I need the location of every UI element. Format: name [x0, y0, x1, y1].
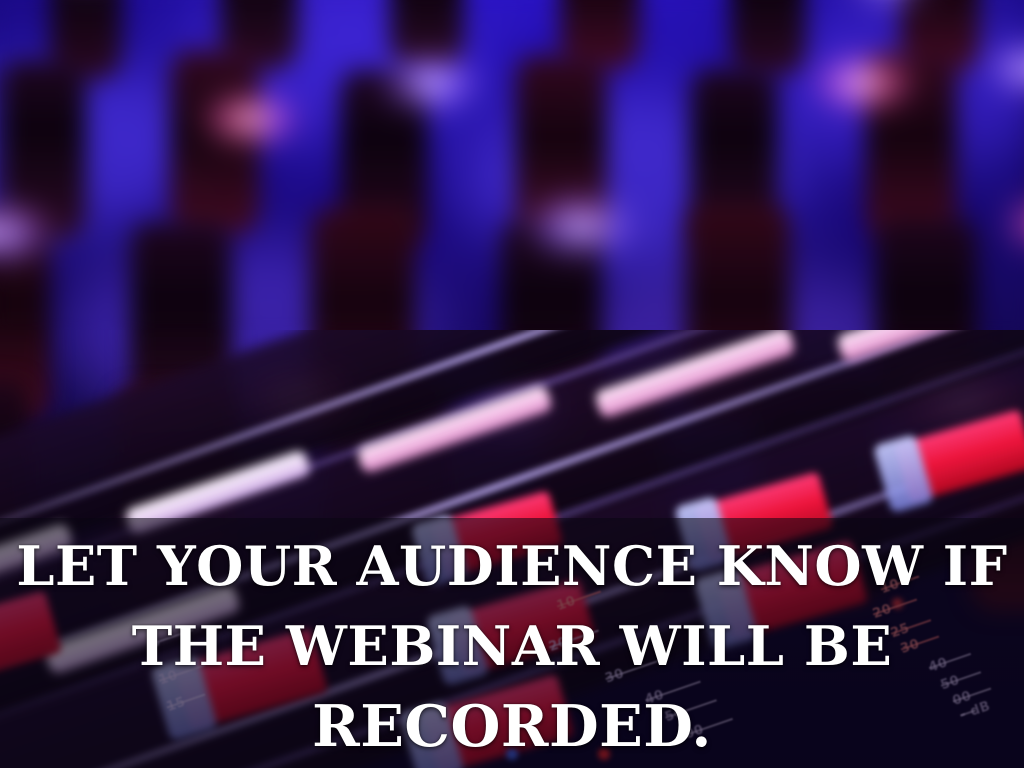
- knob-highlight: [196, 88, 304, 150]
- headline-line-3: RECORDED.: [312, 686, 712, 766]
- knob-highlight: [520, 190, 642, 262]
- knob-highlight: [808, 50, 920, 116]
- knob-highlight: [1000, 186, 1024, 260]
- headline-block: LET YOUR AUDIENCE KNOW IF THE WEBINAR WI…: [0, 518, 1024, 768]
- knob-highlight: [376, 50, 486, 116]
- mixer-knob: [730, 0, 806, 76]
- headline-line-2: THE WEBINAR WILL BE: [132, 606, 893, 686]
- headline-line-1: LET YOUR AUDIENCE KNOW IF: [16, 526, 1007, 606]
- slide-canvas: 5 10 15 10 20 30: [0, 0, 1024, 768]
